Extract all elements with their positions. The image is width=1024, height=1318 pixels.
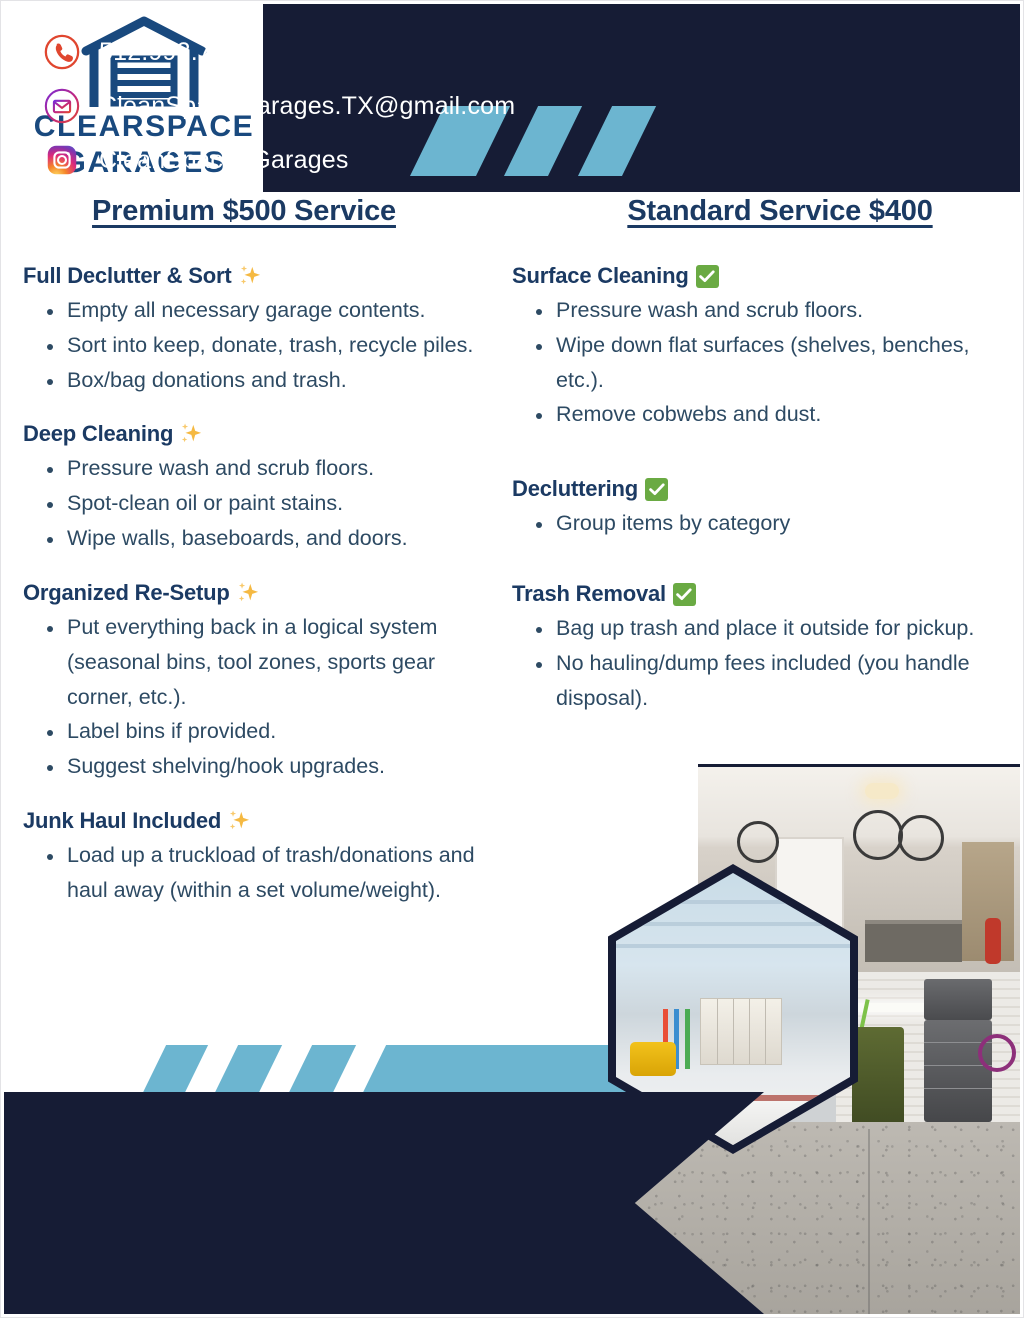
group-heading: Organized Re-Setup (23, 580, 478, 606)
column-titles: Premium $500 Service Standard Service $4… (1, 195, 1023, 228)
service-group: Surface Cleaning Pressure wash and scrub… (512, 263, 1009, 432)
bottom-stripe-3 (278, 1045, 360, 1099)
instagram-handle: CleanSpace_Garages (99, 146, 349, 175)
group-bullet-list: Load up a truckload of trash/donations a… (23, 838, 478, 908)
bottom-stripe-2 (204, 1045, 286, 1099)
service-group: Deep Cleaning Pressure wash and scrub fl… (23, 421, 478, 555)
group-heading-label: Decluttering (512, 476, 638, 502)
group-heading: Deep Cleaning (23, 421, 478, 447)
group-heading-label: Full Declutter & Sort (23, 263, 232, 289)
green-check-icon (645, 478, 668, 501)
group-heading: Decluttering (512, 476, 1009, 502)
bullet-item: Group items by category (534, 506, 1009, 541)
service-group: Junk Haul Included Load up a truckload o… (23, 808, 478, 908)
group-bullet-list: Pressure wash and scrub floors. Wipe dow… (512, 293, 1009, 432)
email-icon (43, 87, 81, 125)
bullet-item: Empty all necessary garage contents. (45, 293, 478, 328)
sparkles-icon (180, 422, 202, 446)
group-bullet-list: Empty all necessary garage contents. Sor… (23, 293, 478, 397)
bullet-item: Label bins if provided. (45, 714, 478, 749)
group-heading: Junk Haul Included (23, 808, 478, 834)
bullet-item: Spot-clean oil or paint stains. (45, 486, 478, 521)
bullet-item: Suggest shelving/hook upgrades. (45, 749, 478, 784)
premium-service-column: Full Declutter & Sort Empty all necessar… (1, 263, 500, 932)
service-group: Trash Removal Bag up trash and place it … (512, 581, 1009, 715)
green-check-icon (696, 265, 719, 288)
standard-column-title: Standard Service $400 (523, 195, 1023, 228)
bullet-item: Wipe down flat surfaces (shelves, benche… (534, 328, 1009, 398)
contact-row-phone[interactable]: 512.993.7898 (43, 33, 515, 71)
group-bullet-list: Bag up trash and place it outside for pi… (512, 611, 1009, 715)
contact-row-instagram[interactable]: CleanSpace_Garages (43, 141, 515, 179)
group-heading: Full Declutter & Sort (23, 263, 478, 289)
group-heading-label: Deep Cleaning (23, 421, 173, 447)
bullet-item: Remove cobwebs and dust. (534, 397, 1009, 432)
header-stripe-3 (578, 106, 660, 176)
group-heading-label: Surface Cleaning (512, 263, 689, 289)
group-heading-label: Trash Removal (512, 581, 666, 607)
group-bullet-list: Put everything back in a logical system … (23, 610, 478, 784)
phone-icon (43, 33, 81, 71)
sparkles-icon (237, 581, 259, 605)
flyer-page: CLEARSPACE GARAGES Premium $500 Service … (0, 0, 1024, 1318)
bullet-item: Sort into keep, donate, trash, recycle p… (45, 328, 478, 363)
bullet-item: Put everything back in a logical system … (45, 610, 478, 714)
service-group: Decluttering Group items by category (512, 476, 1009, 541)
bullet-item: No hauling/dump fees included (you handl… (534, 646, 1009, 716)
bullet-item: Pressure wash and scrub floors. (534, 293, 1009, 328)
premium-column-title: Premium $500 Service (1, 195, 523, 228)
bullet-item: Box/bag donations and trash. (45, 363, 478, 398)
service-group: Full Declutter & Sort Empty all necessar… (23, 263, 478, 397)
contact-row-email[interactable]: CleanSpaceGarages.TX@gmail.com (43, 87, 515, 125)
group-bullet-list: Group items by category (512, 506, 1009, 541)
bullet-item: Wipe walls, baseboards, and doors. (45, 521, 478, 556)
bullet-item: Bag up trash and place it outside for pi… (534, 611, 1009, 646)
bullet-item: Pressure wash and scrub floors. (45, 451, 478, 486)
sparkles-icon (228, 809, 250, 833)
bullet-item: Load up a truckload of trash/donations a… (45, 838, 478, 908)
group-heading: Trash Removal (512, 581, 1009, 607)
phone-number: 512.993.7898 (99, 38, 254, 67)
instagram-icon (43, 141, 81, 179)
service-group: Organized Re-Setup Put everything back i… (23, 580, 478, 784)
sparkles-icon (239, 264, 261, 288)
photo-collage (620, 754, 1020, 1314)
email-address: CleanSpaceGarages.TX@gmail.com (99, 92, 515, 121)
bottom-stripe-1 (132, 1045, 212, 1099)
header-stripe-2 (504, 106, 586, 176)
contact-list: 512.993.7898 CleanSpaceGarages.TX@gmail.… (43, 33, 515, 195)
group-bullet-list: Pressure wash and scrub floors. Spot-cle… (23, 451, 478, 555)
group-heading-label: Junk Haul Included (23, 808, 221, 834)
group-heading: Surface Cleaning (512, 263, 1009, 289)
group-heading-label: Organized Re-Setup (23, 580, 230, 606)
green-check-icon (673, 583, 696, 606)
